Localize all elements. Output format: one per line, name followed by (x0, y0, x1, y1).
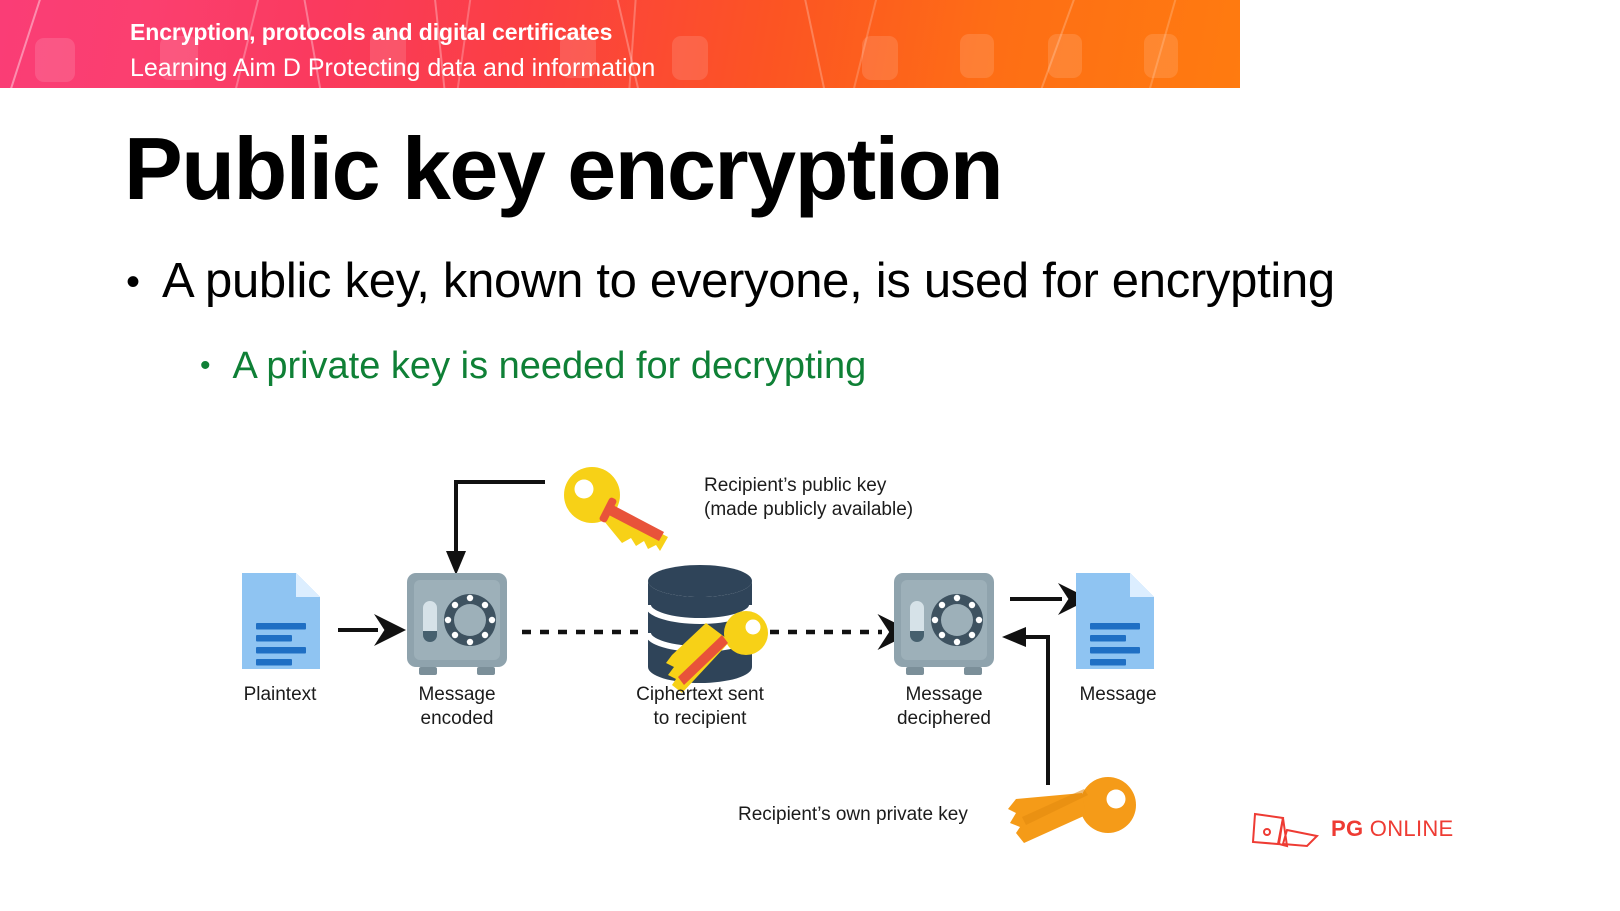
header-hairline (1029, 0, 1082, 88)
header-chip (672, 36, 708, 80)
bullet-level2: • A private key is needed for decrypting (200, 346, 866, 388)
logo-wordmark: PG ONLINE (1331, 816, 1454, 842)
message-encoded-label-line1: Message (402, 683, 512, 707)
public-key-encryption-diagram: Recipient’s public key (made publicly av… (230, 445, 1190, 855)
header-chip (862, 36, 898, 80)
header-chip (1048, 34, 1082, 78)
public-key-label-line2: (made publicly available) (704, 499, 913, 520)
public-key-icon (564, 467, 668, 551)
public-key-label-line1: Recipient’s public key (704, 475, 887, 496)
ciphertext-label-line1: Ciphertext sent (630, 683, 770, 707)
ciphertext-database-icon (648, 565, 768, 693)
bullet-level1-text: A public key, known to everyone, is used… (162, 255, 1335, 309)
header-hairline (1139, 0, 1182, 88)
bullet-dot-icon: • (200, 351, 211, 381)
private-key-label: Recipient’s own private key (738, 803, 1038, 827)
message-label: Message (1068, 683, 1168, 707)
laptop-outline-icon (1245, 806, 1323, 852)
header-title: Encryption, protocols and digital certif… (130, 20, 655, 45)
logo-brand-rest: ONLINE (1363, 816, 1453, 841)
bullet-dot-icon: • (126, 262, 140, 302)
header-hairline (844, 0, 882, 88)
public-key-arrow-path (446, 482, 545, 575)
ciphertext-label: Ciphertext sent to recipient (630, 683, 770, 731)
header-subtitle: Learning Aim D Protecting data and infor… (130, 54, 655, 83)
message-document-icon (1076, 573, 1154, 669)
ciphertext-label-line2: to recipient (630, 707, 770, 731)
header-chip (960, 34, 994, 78)
safe-deciphered-icon (894, 573, 994, 675)
page-title: Public key encryption (124, 125, 1002, 213)
message-encoded-label: Message encoded (402, 683, 512, 731)
message-encoded-label-line2: encoded (402, 707, 512, 731)
bullet-level2-text: A private key is needed for decrypting (233, 346, 867, 388)
header-chip (35, 38, 75, 82)
plaintext-label: Plaintext (230, 683, 330, 707)
header-hairline (800, 0, 833, 88)
bullet-level1: • A public key, known to everyone, is us… (126, 255, 1335, 309)
logo-brand-bold: PG (1331, 816, 1363, 841)
slide-header-banner: Encryption, protocols and digital certif… (0, 0, 1240, 88)
header-chip (1144, 34, 1178, 78)
plaintext-document-icon (242, 573, 320, 669)
header-hairline (2, 0, 44, 88)
pg-online-logo: PG ONLINE (1245, 806, 1454, 852)
private-key-arrow-path (1002, 627, 1048, 785)
message-deciphered-label: Message deciphered (888, 683, 1000, 731)
message-deciphered-label-line1: Message (888, 683, 1000, 707)
safe-encoded-icon (407, 573, 507, 675)
message-deciphered-label-line2: deciphered (888, 707, 1000, 731)
